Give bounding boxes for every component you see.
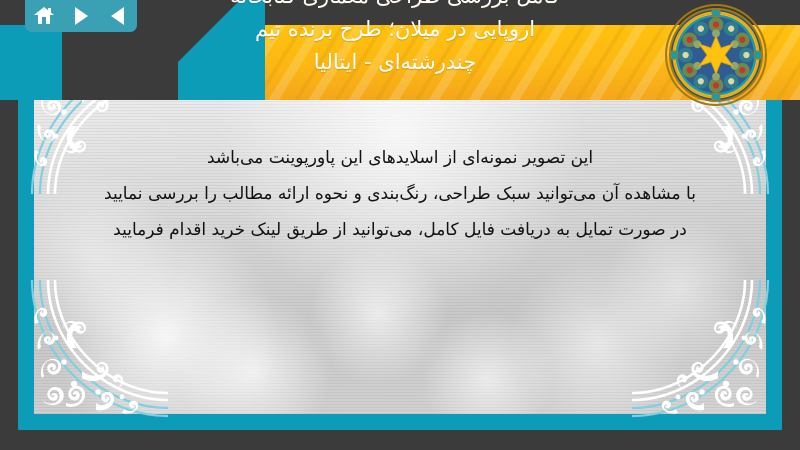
navigation-bar — [25, 0, 137, 32]
islamic-medallion-icon — [667, 6, 765, 104]
triangle-right-icon[interactable] — [67, 3, 95, 29]
title-line-3: چندرشته‌ای - ایتالیا — [115, 46, 675, 79]
home-icon[interactable] — [30, 3, 58, 29]
triangle-left-icon[interactable] — [104, 3, 132, 29]
title-banner-tab — [0, 25, 62, 100]
body-line-1: این تصویر نمونه‌ای از اسلایدهای این پاور… — [58, 140, 742, 176]
slide-body-text: این تصویر نمونه‌ای از اسلایدهای این پاور… — [58, 140, 742, 248]
title-line-2: اروپایی در میلان؛ طرح برنده تیم — [115, 13, 675, 46]
body-line-3: در صورت تمایل به دریافت فایل کامل، می‌تو… — [58, 212, 742, 248]
body-line-2: با مشاهده آن می‌توانید سبک طراحی، رنگ‌بن… — [58, 176, 742, 212]
slide-viewer: این تصویر نمونه‌ای از اسلایدهای این پاور… — [0, 0, 800, 450]
title-line-1: کامل بررسی طراحی معماری کتابخانه — [115, 0, 675, 13]
page-title: کامل بررسی طراحی معماری کتابخانه اروپایی… — [115, 0, 675, 79]
